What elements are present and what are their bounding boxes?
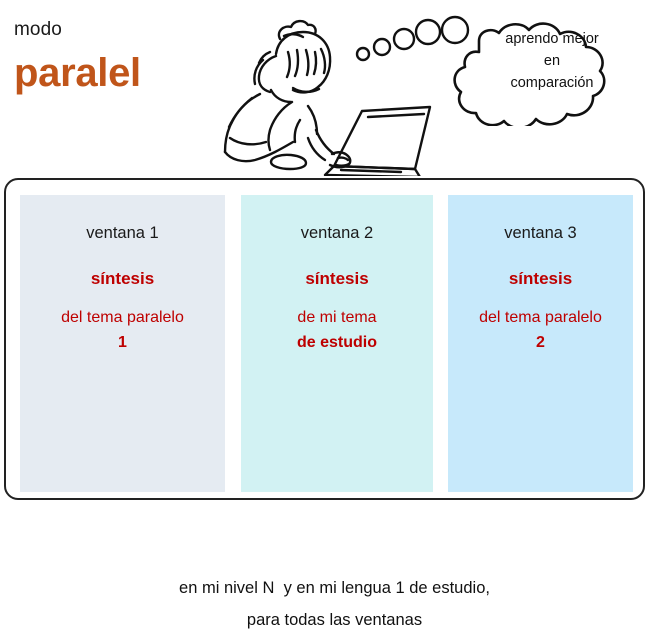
window-column-1[interactable]: ventana 1 síntesis del tema paralelo 1 [20,195,225,492]
window-column-2[interactable]: ventana 2 síntesis de mi tema de estudio [241,195,433,492]
thought-line-2: en [468,50,636,72]
thought-line-3: comparación [468,72,636,94]
footer-line-1: en mi nivel N y en mi lengua 1 de estudi… [20,572,649,604]
window-desc-2: de mi tema de estudio [241,305,433,355]
window-desc-line1-1: del tema paralelo [61,309,184,326]
window-desc-line1-2: de mi tema [297,309,376,326]
page-title: paralel [14,50,224,96]
window-title-1: ventana 1 [20,222,225,244]
thought-bubble-text: aprendo mejor en comparación [468,28,636,94]
window-desc-line2-3: 2 [448,330,633,355]
footer-line-2: para todas las ventanas [20,604,649,636]
thought-dot-4 [416,20,440,44]
title-block: modo paralel [14,18,224,96]
window-heading-1: síntesis [20,268,225,290]
window-heading-3: síntesis [448,268,633,290]
header-area: modo paralel [0,0,657,178]
window-desc-line1-3: del tema paralelo [479,309,602,326]
thought-dot-2 [374,39,390,55]
window-desc-1: del tema paralelo 1 [20,305,225,355]
panel-footer-note: en mi nivel N y en mi lengua 1 de estudi… [20,572,649,636]
thought-bubble: aprendo mejor en comparación [446,0,657,126]
window-desc-line2-1: 1 [20,330,225,355]
thought-dot-3 [394,29,414,49]
window-heading-2: síntesis [241,268,433,290]
windows-panel: ventana 1 síntesis del tema paralelo 1 v… [4,178,645,500]
window-column-3[interactable]: ventana 3 síntesis del tema paralelo 2 [448,195,633,492]
thought-line-1: aprendo mejor [468,28,636,50]
window-desc-3: del tema paralelo 2 [448,305,633,355]
thought-dot-1 [357,48,369,60]
windows-columns: ventana 1 síntesis del tema paralelo 1 v… [20,195,633,492]
window-title-3: ventana 3 [448,222,633,244]
window-title-2: ventana 2 [241,222,433,244]
window-desc-line2-2: de estudio [241,330,433,355]
label-modo: modo [14,18,224,42]
